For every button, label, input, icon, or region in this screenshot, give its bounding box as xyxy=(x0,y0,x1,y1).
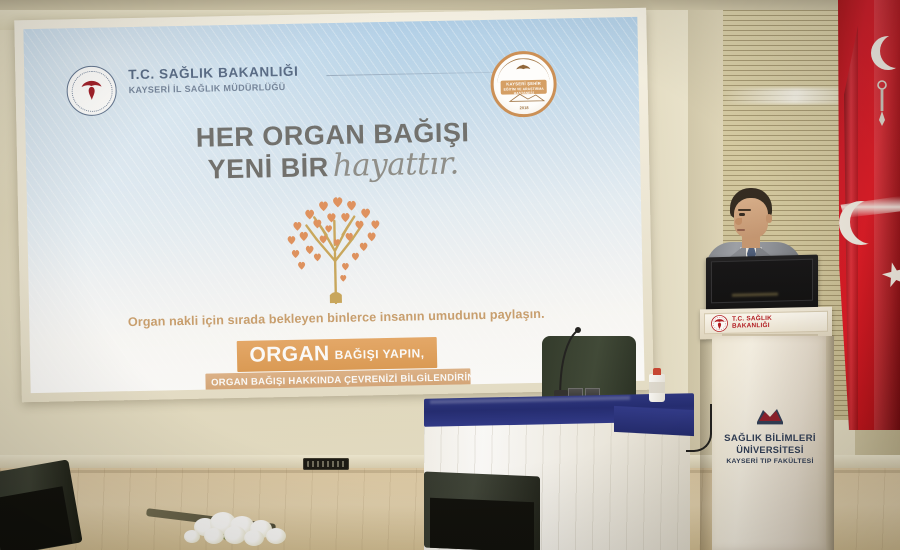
university-crest-icon xyxy=(755,404,785,426)
laptop-computer[interactable] xyxy=(706,255,818,314)
lily-bloom xyxy=(224,526,246,544)
laptop-screen[interactable] xyxy=(711,259,813,304)
podium-right-edge xyxy=(826,336,834,550)
lily-bloom xyxy=(244,530,264,546)
cta-primary-big-word: ORGAN xyxy=(249,342,330,367)
flag-crescent-icon xyxy=(850,200,894,244)
wall-vent-grille-icon xyxy=(303,458,349,470)
cta-secondary-banner: ORGAN BAĞIŞI HAKKINDA ÇEVRENİZİ BİLGİLEN… xyxy=(205,368,470,393)
ceiling-edge xyxy=(0,0,900,10)
podium-plaque-text: T.C. SAĞLIK BAKANLIĞI xyxy=(732,316,772,330)
lily-bloom xyxy=(184,530,200,543)
heart-leaf-tree-icon xyxy=(266,190,404,309)
podium-university-line1: SAĞLIK BİLİMLERİ xyxy=(716,434,824,445)
slide-body-text: Organ nakli için sırada bekleyen binlerc… xyxy=(29,305,643,331)
podium-plaque-line2: BAKANLIĞI xyxy=(732,322,772,329)
ministry-name-line1: T.C. SAĞLIK BAKANLIĞI xyxy=(128,64,298,83)
presenter-ear xyxy=(766,214,772,223)
cta-primary-small-text: BAĞIŞI YAPIN, xyxy=(335,346,425,362)
presenter-eye xyxy=(739,213,745,216)
ministry-name-line2: KAYSERİ İL SAĞLIK MÜDÜRLÜĞÜ xyxy=(129,81,299,96)
tree-graphic xyxy=(266,190,404,309)
headline-script-word: hayattır. xyxy=(332,146,459,185)
stage-monitor-grille-center xyxy=(430,498,534,550)
power-cable xyxy=(686,404,712,452)
city-seal-caduceus-icon xyxy=(513,63,533,77)
slide-header: T.C. SAĞLIK BAKANLIĞI KAYSERİ İL SAĞLIK … xyxy=(66,53,615,118)
conference-hall-photo: T.C. SAĞLIK BAKANLIĞI KAYSERİ İL SAĞLIK … xyxy=(0,0,900,550)
slat-panel-light-reflection xyxy=(723,88,855,104)
caduceus-crescent-icon xyxy=(66,65,117,116)
flag-pole-clip-icon xyxy=(876,80,888,128)
bottle-cap xyxy=(653,368,661,375)
caduceus-glyph-icon xyxy=(76,78,107,105)
cta-primary-banner: ORGANBAĞIŞI YAPIN, xyxy=(237,337,437,372)
disinfectant-bottle xyxy=(649,368,665,402)
stage-monitor-grille-left xyxy=(0,486,72,550)
city-seal-mountain-icon xyxy=(508,92,546,103)
city-seal-icon: KAYSERİ ŞEHİR EĞİTİM VE ARAŞTIRMA HASTAN… xyxy=(490,51,557,118)
headline-line2-prefix: YENİ BİR xyxy=(207,152,329,184)
bottle-label xyxy=(649,382,665,393)
city-seal-year: 2018 xyxy=(494,105,554,111)
podium-university-line2: ÜNİVERSİTESİ xyxy=(716,445,824,455)
podium-university-branding: SAĞLIK BİLİMLERİ ÜNİVERSİTESİ KAYSERİ TI… xyxy=(716,404,824,476)
presenter-eyebrow xyxy=(738,209,751,211)
lily-bloom xyxy=(204,528,224,544)
turkish-flag xyxy=(838,0,900,440)
podium-university-line3: KAYSERİ TIP FAKÜLTESİ xyxy=(716,458,824,465)
podium-plaque: T.C. SAĞLIK BAKANLIĞI xyxy=(704,311,828,335)
ministry-title-block: T.C. SAĞLIK BAKANLIĞI KAYSERİ İL SAĞLIK … xyxy=(128,64,299,97)
lily-bloom xyxy=(266,528,286,544)
ministry-of-health-logo-icon xyxy=(711,315,728,332)
presenter-nose xyxy=(735,218,742,225)
table-runner-front-drape xyxy=(614,406,694,436)
slide-headline: HER ORGAN BAĞIŞI YENİ BİRhayattır. xyxy=(25,115,640,189)
city-seal-line1: KAYSERİ ŞEHİR xyxy=(501,81,547,87)
presenter-mouth xyxy=(737,229,745,231)
white-lily-arrangement xyxy=(150,500,360,550)
